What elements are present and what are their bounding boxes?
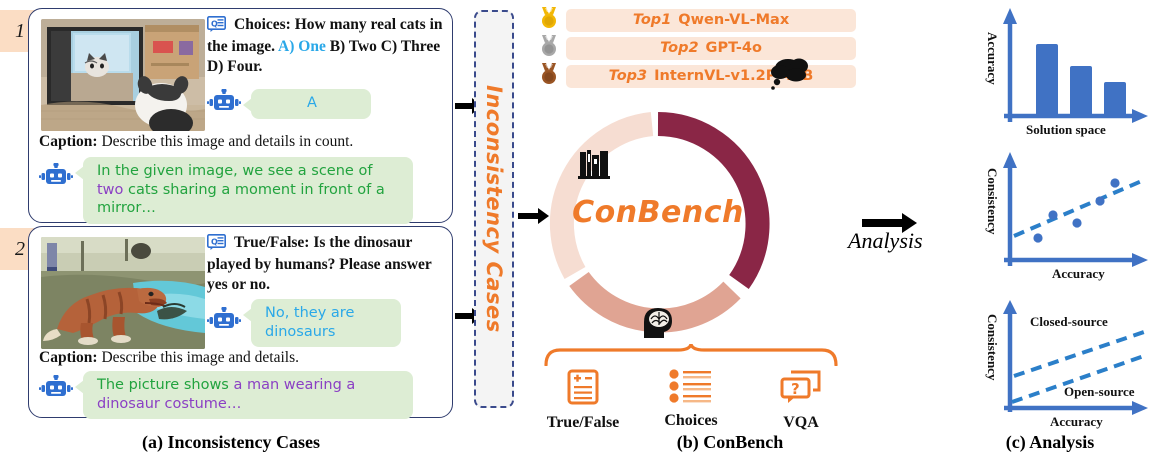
case-question: Q Choices: How many real cats in the ima…: [207, 15, 447, 76]
case-short-answer-bubble: A: [251, 89, 371, 119]
case-short-answer-row: No, they are dinosaurs: [207, 299, 401, 347]
task-true-false[interactable]: True/False: [538, 368, 628, 432]
books-icon: [578, 148, 612, 185]
robot-icon: [207, 89, 241, 121]
task-choices[interactable]: Choices: [646, 368, 736, 430]
panel-a-title: (a) Inconsistency Cases: [0, 432, 462, 453]
chart1-y-axis-label: Accuracy: [984, 32, 1000, 85]
caption-text: Describe this image and details.: [98, 349, 299, 366]
svg-text:Q: Q: [211, 19, 218, 28]
task-label: VQA: [756, 414, 846, 432]
bronze-medal-icon: [538, 62, 560, 91]
chart-consistency-vs-accuracy: Consistency Accuracy: [948, 150, 1152, 298]
leaderboard-bar: Top3 InternVL-v1.2P-40B: [566, 65, 856, 88]
chart2-x-axis-label: Accuracy: [1052, 266, 1105, 282]
leaderboard-model: Qwen-VL-Max: [678, 12, 789, 28]
case-photo: [41, 237, 205, 349]
case-question: Q True/False: Is the dinosaur played by …: [207, 233, 447, 294]
short-answer-text: A: [307, 95, 317, 111]
panel-b-title: (b) ConBench: [520, 432, 940, 453]
question-chat-icon: ?: [779, 393, 823, 410]
robot-icon: [207, 307, 241, 339]
case-card: Q Choices: How many real cats in the ima…: [28, 8, 453, 223]
brain-head-icon: [638, 302, 680, 347]
case-short-answer-row: A: [207, 89, 371, 121]
chart3-y-axis-label: Consistency: [984, 314, 1000, 380]
svg-text:Q: Q: [211, 237, 218, 246]
bullet-list-icon: [668, 391, 714, 408]
leaderboard-bar: Top1 Qwen-VL-Max: [566, 9, 856, 32]
question-bubble-icon: Q: [207, 234, 226, 255]
task-label: True/False: [538, 414, 628, 432]
caption-text: Describe this image and details in count…: [98, 133, 354, 150]
case-photo: [41, 19, 205, 131]
leaderboard-rank: Top2: [660, 40, 698, 56]
case-card: Q True/False: Is the dinosaur played by …: [28, 226, 453, 418]
inconsistency-cases-label: Inconsistency Cases: [474, 10, 514, 408]
true-false-card-icon: [564, 393, 602, 410]
leaderboard-bar: Top2 GPT-4o: [566, 37, 856, 60]
panel-c-title: (c) Analysis: [948, 432, 1152, 453]
long-answer-green-1: In the given image, we see a scene of: [97, 163, 372, 179]
long-answer-purple: two: [97, 182, 123, 198]
leaderboard-model: GPT-4o: [706, 40, 762, 56]
inconsistency-cases-text: Inconsistency Cases: [482, 85, 506, 333]
task-vqa[interactable]: ? VQA: [756, 368, 846, 432]
case-caption-line: Caption: Describe this image and details…: [39, 133, 353, 151]
silver-medal-icon: [538, 34, 560, 63]
panel-inconsistency-cases: 1 2: [0, 0, 462, 468]
conbench-logo-text: ConBench: [542, 195, 774, 230]
chart1-x-axis-label: Solution space: [1026, 122, 1106, 138]
question-highlighted-option: A) One: [278, 38, 326, 55]
chart3-series-label-open: Open-source: [1064, 384, 1135, 400]
caption-label: Caption:: [39, 133, 98, 150]
leaderboard-rank: Top3: [609, 68, 647, 84]
question-type-label: True/False:: [234, 234, 309, 251]
robot-icon: [39, 375, 73, 407]
panel-analysis: Accuracy Solution space Consistency Accu…: [948, 0, 1152, 468]
chart-accuracy-vs-solution-space: Accuracy Solution space: [948, 4, 1152, 146]
analysis-arrow-label: Analysis: [848, 228, 923, 254]
case-long-answer-bubble: In the given image, we see a scene of tw…: [83, 157, 413, 224]
case-long-answer-row: In the given image, we see a scene of tw…: [39, 157, 413, 224]
question-bubble-icon: Q: [207, 16, 226, 37]
chart2-y-axis-label: Consistency: [984, 168, 1000, 234]
svg-text:?: ?: [791, 380, 800, 398]
task-label: Choices: [646, 412, 736, 430]
robot-icon: [39, 163, 73, 195]
long-answer-green-2: cats sharing a moment in front of a mirr…: [97, 182, 385, 217]
case-caption-line: Caption: Describe this image and details…: [39, 349, 299, 367]
thought-cloud-icon: [768, 52, 812, 101]
question-type-label: Choices:: [234, 16, 291, 33]
task-brace: [542, 344, 840, 371]
case-short-answer-bubble: No, they are dinosaurs: [251, 299, 401, 347]
caption-label: Caption:: [39, 349, 98, 366]
gold-medal-icon: [538, 6, 560, 35]
chart3-x-axis-label: Accuracy: [1050, 414, 1103, 430]
short-answer-text: No, they are dinosaurs: [265, 305, 354, 340]
leaderboard-row[interactable]: Top1 Qwen-VL-Max: [538, 8, 856, 32]
case-long-answer-bubble: The picture shows a man wearing a dinosa…: [83, 371, 413, 419]
case-long-answer-row: The picture shows a man wearing a dinosa…: [39, 371, 413, 419]
chart3-series-label-closed: Closed-source: [1030, 314, 1108, 330]
long-answer-green-1: The picture shows: [97, 377, 233, 393]
leaderboard-rank: Top1: [633, 12, 671, 28]
